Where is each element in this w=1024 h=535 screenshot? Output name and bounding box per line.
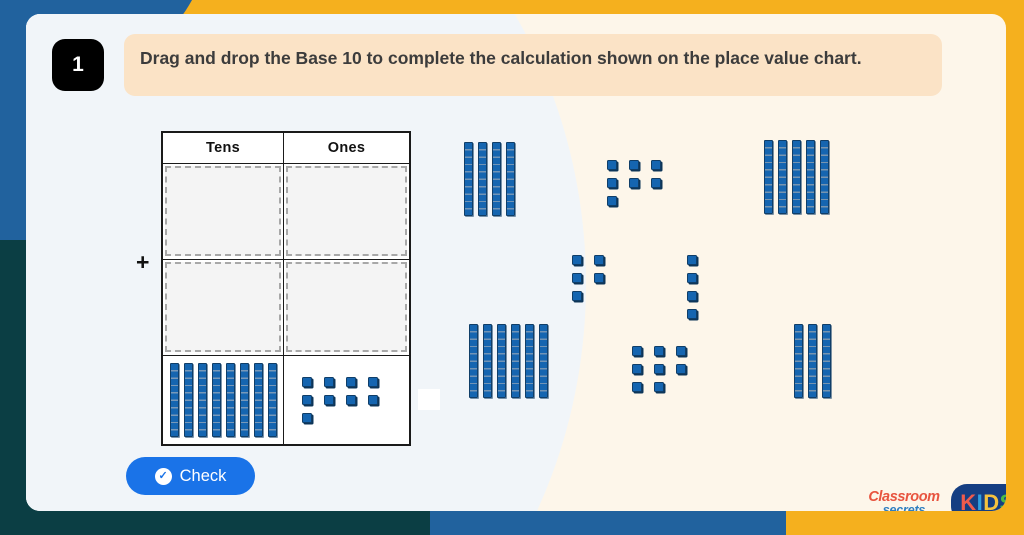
decorative-white-chip [418,389,440,410]
answer-rod [240,363,249,437]
draggable-base-ten-cubes[interactable] [681,251,717,323]
kids-letter-d: D [983,490,998,511]
column-header-tens: Tens [162,132,284,163]
dropzone-ones-row2[interactable] [284,259,411,355]
answer-rod [226,363,235,437]
instruction-banner: Drag and drop the Base 10 to complete th… [124,34,942,96]
draggable-base-ten-cubes[interactable] [566,251,618,305]
draggable-rod [820,140,829,214]
answer-cube [368,377,378,387]
draggable-rod [792,140,801,214]
draggable-cube [572,255,582,265]
tens-rods-group [163,356,283,445]
draggable-rod [778,140,787,214]
draggable-rod [469,324,478,398]
answer-rod [198,363,207,437]
kids-letter-i: I [977,490,983,511]
check-button[interactable]: ✓ Check [126,457,255,495]
classroom-secrets-logo: Classroom secrets [862,487,946,511]
classroom-secrets-line2: secrets [883,504,925,511]
total-tens-cell [162,355,284,445]
draggable-rod [806,140,815,214]
background-bottom-blue-strip [430,511,786,535]
addition-operator: + [136,251,149,274]
draggable-rod [539,324,548,398]
draggable-base-ten-rods[interactable] [466,324,550,398]
dropzone-inner[interactable] [165,262,281,352]
draggable-rod [808,324,817,398]
column-header-ones: Ones [284,132,411,163]
draggable-cube [676,364,686,374]
answer-cube [302,413,312,423]
answer-cube [302,377,312,387]
activity-card: 1 Drag and drop the Base 10 to complete … [26,14,1006,511]
ones-cubes-group [284,356,409,445]
addend-row-2 [162,259,410,355]
answer-cube [346,395,356,405]
draggable-rod [822,324,831,398]
table-header-row: Tens Ones [162,132,410,163]
draggable-rod [764,140,773,214]
kids-letter-k: K [960,490,975,511]
draggable-cube [594,255,604,265]
answer-cube [324,395,334,405]
draggable-cube [651,178,661,188]
kids-logo: K I D S [951,484,1006,511]
draggable-cube [594,273,604,283]
draggable-rod [492,142,501,216]
kids-letter-s: S [1000,490,1006,511]
draggable-base-ten-cubes[interactable] [601,156,669,210]
draggable-cube [607,178,617,188]
dropzone-inner[interactable] [165,166,281,256]
dropzone-ones-row1[interactable] [284,163,411,259]
background-bottom-teal-strip [0,511,430,535]
classroom-secrets-line1: Classroom [868,490,939,505]
answer-cube [302,395,312,405]
draggable-cube [654,346,664,356]
draggable-cube [687,255,697,265]
answer-rod [170,363,179,437]
answer-rod [268,363,277,437]
activity-screen: 1 Drag and drop the Base 10 to complete … [0,0,1024,535]
draggable-cube [632,364,642,374]
answer-rod [184,363,193,437]
check-button-label: Check [180,467,227,486]
draggable-cube [632,382,642,392]
dropzone-inner[interactable] [286,166,407,256]
draggable-cube [651,160,661,170]
draggable-cube [572,291,582,301]
background-bottom-yellow-strip [786,511,1024,535]
answer-cube [346,377,356,387]
draggable-cube [572,273,582,283]
draggable-cube [654,364,664,374]
question-number-badge: 1 [52,39,104,91]
draggable-rod [483,324,492,398]
draggable-cube [676,346,686,356]
draggable-cube [607,196,617,206]
draggable-cube [687,291,697,301]
draggable-cube [629,178,639,188]
total-row [162,355,410,445]
draggable-base-ten-rods[interactable] [791,324,833,398]
answer-cube [368,395,378,405]
draggable-rod [478,142,487,216]
dropzone-inner[interactable] [286,262,407,352]
draggable-cube [654,382,664,392]
draggable-cube [607,160,617,170]
place-value-table: Tens Ones [161,131,411,446]
answer-cube [324,377,334,387]
draggable-rod [525,324,534,398]
check-circle-icon: ✓ [155,468,172,485]
draggable-rod [794,324,803,398]
draggable-cube [629,160,639,170]
total-ones-cell [284,355,411,445]
draggable-rod [506,142,515,216]
draggable-base-ten-rods[interactable] [461,142,517,216]
answer-rod [212,363,221,437]
dropzone-tens-row2[interactable] [162,259,284,355]
addend-row-1 [162,163,410,259]
draggable-base-ten-rods[interactable] [761,140,831,214]
draggable-cube [687,273,697,283]
dropzone-tens-row1[interactable] [162,163,284,259]
draggable-cube [632,346,642,356]
draggable-rod [497,324,506,398]
draggable-base-ten-cubes[interactable] [626,342,698,396]
draggable-rod [464,142,473,216]
draggable-cube [687,309,697,319]
draggable-rod [511,324,520,398]
answer-rod [254,363,263,437]
